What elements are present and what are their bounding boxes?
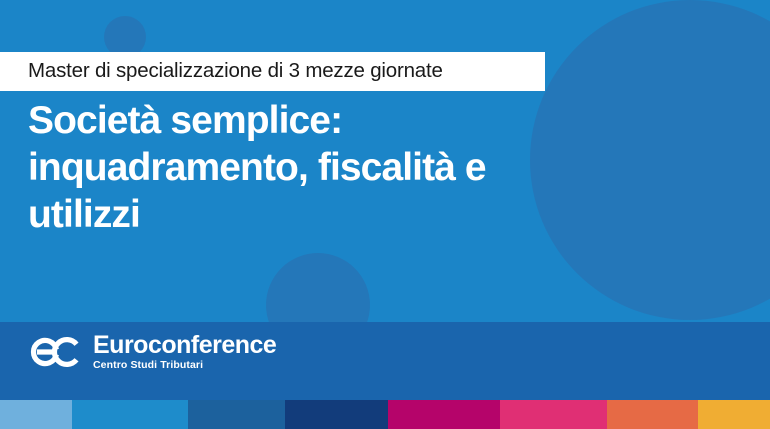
title-line-3: utilizzi [28, 191, 648, 238]
color-swatch-medium-blue [188, 400, 285, 429]
color-swatch-light-blue [0, 400, 72, 429]
color-swatch-orange [607, 400, 698, 429]
logo-tagline: Centro Studi Tributari [93, 359, 276, 372]
page-title: Società semplice: inquadramento, fiscali… [28, 97, 648, 238]
title-line-1: Società semplice: [28, 97, 648, 144]
title-line-2: inquadramento, fiscalità e [28, 144, 648, 191]
logo-wordmark: Euroconference [93, 332, 276, 358]
eyebrow-text: Master di specializzazione di 3 mezze gi… [28, 61, 443, 82]
promotional-banner: Master di specializzazione di 3 mezze gi… [0, 0, 770, 429]
color-swatch-amber [698, 400, 770, 429]
color-swatch-blue [72, 400, 188, 429]
color-swatch-navy [285, 400, 388, 429]
ec-monogram-icon [28, 332, 84, 372]
brand-logo: Euroconference Centro Studi Tributari [28, 332, 276, 372]
logo-text-group: Euroconference Centro Studi Tributari [93, 332, 276, 372]
footer-band: Euroconference Centro Studi Tributari [0, 322, 770, 400]
eyebrow-banner: Master di specializzazione di 3 mezze gi… [0, 52, 545, 91]
color-strip [0, 400, 770, 429]
color-swatch-pink [500, 400, 607, 429]
color-swatch-magenta [388, 400, 500, 429]
